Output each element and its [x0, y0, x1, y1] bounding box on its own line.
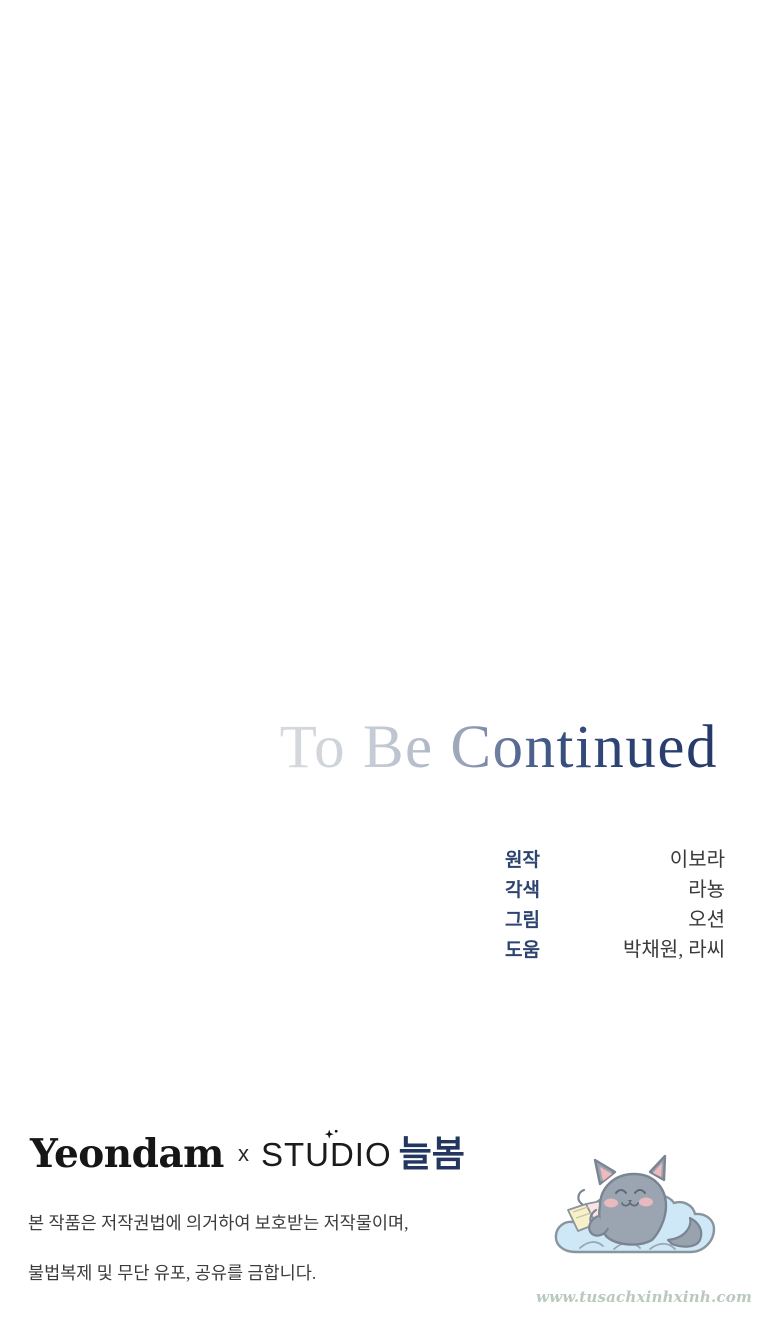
credit-row: 각색 라뇽 [505, 873, 725, 903]
credits-list: 원작 이보라 각색 라뇽 그림 오션 도움 박채원, 라씨 [505, 843, 725, 963]
credit-label-art: 그림 [505, 905, 540, 932]
logo-separator-x: x [238, 1143, 249, 1165]
credit-label-original: 원작 [505, 845, 540, 872]
yeondam-logo: Yeondam [30, 1135, 224, 1174]
studio-logo-group: STUDIO [261, 1138, 392, 1171]
copyright-line-2: 불법복제 및 무단 유포, 공유를 금합니다. [28, 1261, 408, 1286]
credit-label-assist: 도움 [505, 935, 540, 962]
cat-on-cloud-illustration [540, 1148, 760, 1278]
credit-value-art: 오션 [688, 903, 725, 932]
credit-row: 원작 이보라 [505, 843, 725, 873]
studio-wordmark: STUDIO [261, 1138, 392, 1171]
credit-value-assist: 박채원, 라씨 [623, 933, 725, 962]
credit-row: 그림 오션 [505, 903, 725, 933]
comic-end-card-page: To Be Continued 원작 이보라 각색 라뇽 그림 오션 도움 박채… [0, 0, 760, 1322]
credit-row: 도움 박채원, 라씨 [505, 933, 725, 963]
site-watermark: www.tusachxinhxinh.com [528, 1288, 760, 1306]
credit-value-adaptation: 라뇽 [688, 873, 725, 902]
to-be-continued-block: To Be Continued [0, 716, 740, 780]
credit-value-original: 이보라 [670, 843, 725, 872]
neulbom-logo: 늘봄 [399, 1136, 465, 1172]
publisher-logo-row: Yeondam x STUDIO 늘봄 [30, 1128, 465, 1180]
to-be-continued-title: To Be Continued [280, 716, 718, 780]
copyright-line-1: 본 작품은 저작권법에 의거하여 보호받는 저작물이며, [28, 1211, 408, 1236]
credit-label-adaptation: 각색 [505, 875, 540, 902]
copyright-notice: 본 작품은 저작권법에 의거하여 보호받는 저작물이며, 불법복제 및 무단 유… [28, 1186, 408, 1310]
